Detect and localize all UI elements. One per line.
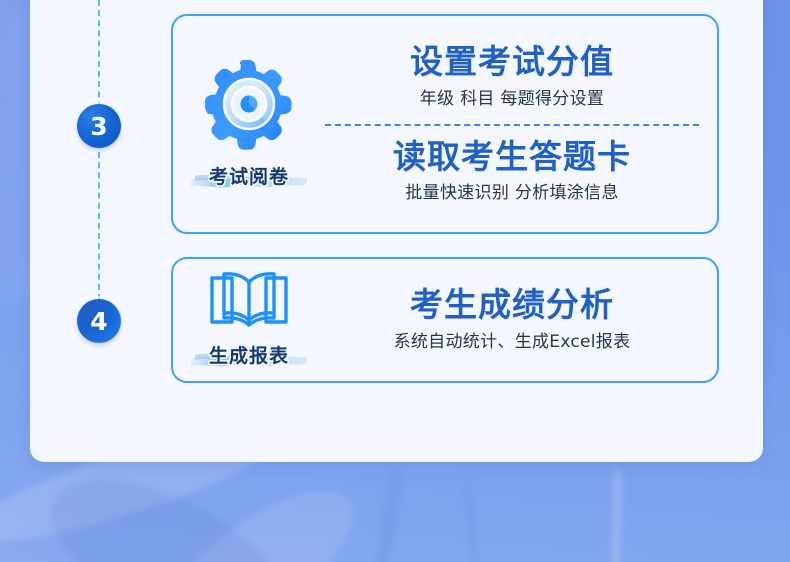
background-fold-6 xyxy=(463,480,486,562)
step-3-title-1: 设置考试分值 xyxy=(325,43,699,81)
step-4-section-1: 考生成绩分析 系统自动统计、生成Excel报表 xyxy=(325,286,699,353)
step-4-subtitle-1: 系统自动统计、生成Excel报表 xyxy=(325,331,699,353)
promo-page: 3 4 xyxy=(0,0,790,562)
step-3-brush-label: 考试阅卷 xyxy=(189,158,309,192)
background-fold-4 xyxy=(611,470,623,562)
timeline-dashed-line xyxy=(98,0,100,300)
step-4-icon-column: 生成报表 xyxy=(173,269,325,371)
step-3-subtitle-2: 批量快速识别 分析填涂信息 xyxy=(325,182,699,204)
open-book-icon xyxy=(206,269,292,331)
step-3-subtitle-1: 年级 科目 每题得分设置 xyxy=(325,88,699,110)
step-3-section-2: 读取考生答题卡 批量快速识别 分析填涂信息 xyxy=(325,138,699,205)
step-3-section-1: 设置考试分值 年级 科目 每题得分设置 xyxy=(325,43,699,110)
step-3-text-column: 设置考试分值 年级 科目 每题得分设置 读取考生答题卡 批量快速识别 分析填涂信… xyxy=(325,16,717,232)
step-4-text-column: 考生成绩分析 系统自动统计、生成Excel报表 xyxy=(325,259,717,381)
step-card-4[interactable]: 生成报表 考生成绩分析 系统自动统计、生成Excel报表 xyxy=(171,257,719,383)
step-4-brush-label: 生成报表 xyxy=(189,337,309,371)
step-3-label-text: 考试阅卷 xyxy=(209,162,289,189)
step-4-label-text: 生成报表 xyxy=(209,341,289,368)
step-badge-4: 4 xyxy=(77,299,121,343)
step-card-3[interactable]: 考试阅卷 设置考试分值 年级 科目 每题得分设置 读取考生答题卡 批量快速识别 … xyxy=(171,14,719,234)
step-4-title-1: 考生成绩分析 xyxy=(325,286,699,324)
gear-target-icon xyxy=(201,56,297,152)
background-fold-3 xyxy=(370,470,404,562)
step-badge-3: 3 xyxy=(77,104,121,148)
step-3-icon-column: 考试阅卷 xyxy=(173,56,325,192)
step-3-title-2: 读取考生答题卡 xyxy=(325,138,699,176)
step-3-divider xyxy=(325,124,699,126)
